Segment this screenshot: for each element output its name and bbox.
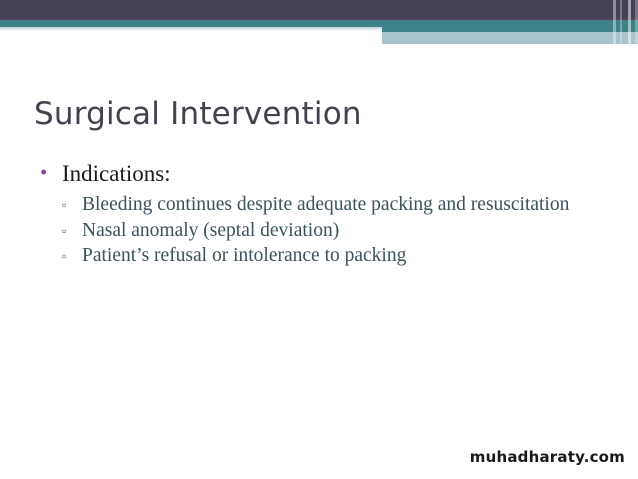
bullet-square-icon: ▫	[62, 219, 82, 243]
bullet-level2-label: Nasal anomaly (septal deviation)	[82, 219, 594, 243]
slide: Surgical Intervention • Indications: ▫ B…	[0, 0, 638, 479]
bullet-dot-icon: •	[40, 160, 62, 185]
top-banner	[0, 0, 638, 46]
bullet-level2: ▫ Bleeding continues despite adequate pa…	[62, 193, 610, 217]
banner-stripe-3	[628, 0, 631, 46]
bullet-square-icon: ▫	[62, 244, 82, 268]
slide-body: • Indications: ▫ Bleeding continues desp…	[40, 160, 610, 269]
slide-title: Surgical Intervention	[34, 96, 362, 132]
bullet-level2: ▫ Nasal anomaly (septal deviation)	[62, 219, 610, 243]
bullet-sublist: ▫ Bleeding continues despite adequate pa…	[40, 193, 610, 268]
banner-teal-band-right	[382, 20, 638, 32]
banner-stripe-1	[613, 0, 616, 46]
bullet-level2-label: Patient’s refusal or intolerance to pack…	[82, 244, 594, 268]
banner-pale-band-right	[382, 32, 638, 44]
bullet-level1: • Indications:	[40, 160, 610, 187]
bullet-square-icon: ▫	[62, 193, 82, 217]
bullet-level2-label: Bleeding continues despite adequate pack…	[82, 193, 594, 217]
banner-navy-band	[0, 0, 638, 18]
bullet-level1-label: Indications:	[62, 160, 610, 187]
watermark: muhadharaty.com	[470, 448, 625, 466]
banner-pale-band-left	[0, 27, 382, 31]
banner-stripe-2	[620, 0, 622, 46]
bullet-level2: ▫ Patient’s refusal or intolerance to pa…	[62, 244, 610, 268]
